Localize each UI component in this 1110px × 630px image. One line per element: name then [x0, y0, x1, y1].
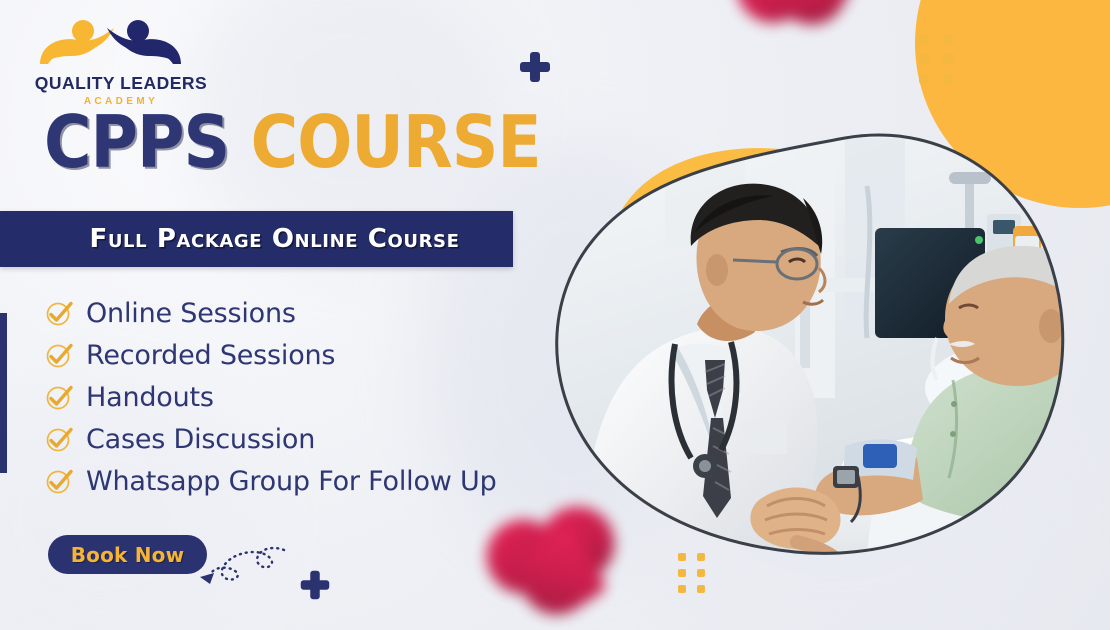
- list-item-label: Cases Discussion: [86, 424, 315, 455]
- dot-grid-icon: [919, 34, 953, 84]
- list-item: Cases Discussion: [44, 418, 497, 460]
- logo-name: QUALITY LEADERS: [26, 73, 216, 94]
- promo-banner: QUALITY LEADERS ACADEMY CPPS COURSE Full…: [0, 0, 1110, 630]
- list-item-label: Handouts: [86, 382, 214, 413]
- check-circle-icon: [44, 299, 74, 327]
- plus-icon: [520, 52, 550, 82]
- brand-logo[interactable]: QUALITY LEADERS ACADEMY: [26, 18, 216, 107]
- list-item: Whatsapp Group For Follow Up: [44, 460, 497, 502]
- list-item-label: Whatsapp Group For Follow Up: [86, 466, 497, 497]
- list-item: Online Sessions: [44, 292, 497, 334]
- plus-icon: [301, 571, 330, 600]
- book-now-button[interactable]: Book Now: [48, 535, 207, 574]
- book-now-label: Book Now: [71, 543, 185, 567]
- dotted-swirl-arrow-icon: [196, 544, 288, 590]
- dot-grid-icon: [678, 553, 705, 593]
- feature-list: Online Sessions Recorded Sessions Handou…: [44, 292, 497, 502]
- headline-secondary: COURSE: [251, 100, 541, 184]
- list-item-label: Recorded Sessions: [86, 340, 335, 371]
- list-item: Handouts: [44, 376, 497, 418]
- list-item-label: Online Sessions: [86, 298, 296, 329]
- subtitle-banner: Full Package Online Course: [0, 211, 513, 267]
- check-circle-icon: [44, 383, 74, 411]
- list-item: Recorded Sessions: [44, 334, 497, 376]
- check-circle-icon: [44, 341, 74, 369]
- page-title: CPPS COURSE: [44, 106, 541, 178]
- logo-figures-icon: [26, 18, 216, 72]
- headline-primary: CPPS: [44, 100, 229, 184]
- doctor-patient-photo: [545, 128, 1105, 568]
- check-circle-icon: [44, 425, 74, 453]
- subtitle-text: Full Package Online Course: [53, 224, 459, 254]
- heart-icon: [766, 0, 857, 33]
- hero-photo-group: [525, 120, 1110, 580]
- navy-accent-bar: [0, 313, 7, 473]
- check-circle-icon: [44, 467, 74, 495]
